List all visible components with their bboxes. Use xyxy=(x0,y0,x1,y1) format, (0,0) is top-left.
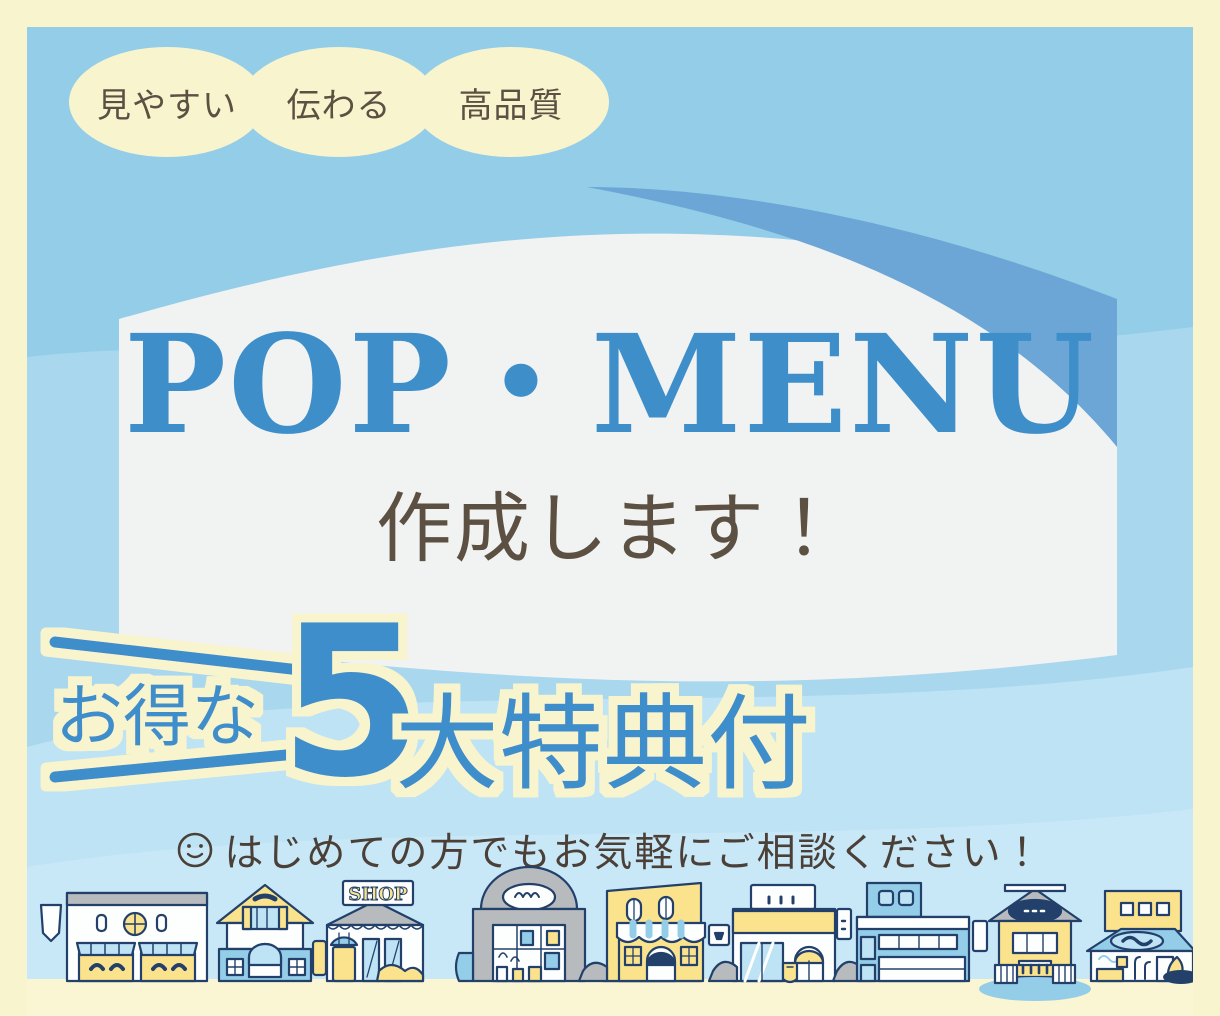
badge-label: 見やすい xyxy=(97,78,237,127)
town-illustration: SHOP xyxy=(27,861,1193,1016)
page-subtitle: 作成します！ xyxy=(27,467,1193,577)
benefit-graphic: お得な 5 大特典付 xyxy=(27,602,1193,822)
banner-root: 見やすい 伝わる 高品質 POP・MENU 作成します！ xyxy=(0,0,1220,1016)
shop-restaurant-building xyxy=(979,885,1091,1001)
shop-bakery-building xyxy=(579,883,729,981)
shop-sign-text: SHOP xyxy=(348,884,408,905)
shop-cafe-building xyxy=(41,893,207,981)
badge-item-2: 高品質 xyxy=(413,47,609,157)
benefit-suffix: 大特典付 xyxy=(395,683,811,805)
badge-label: 伝わる xyxy=(287,78,392,127)
shop-office-building xyxy=(857,883,987,981)
shop-convenience-building xyxy=(709,885,861,982)
town-graphic: SHOP xyxy=(27,861,1193,1016)
badge-group: 見やすい 伝わる 高品質 xyxy=(69,47,585,157)
page-title: POP・MENU xyxy=(27,317,1193,453)
badge-item-1: 伝わる xyxy=(241,47,437,157)
badge-item-0: 見やすい xyxy=(69,47,265,157)
benefit-prefix: お得な xyxy=(55,678,259,757)
shop-sign-building: SHOP xyxy=(327,881,423,981)
benefit-band: お得な 5 大特典付 xyxy=(27,602,1193,822)
shop-studio-building xyxy=(1087,891,1193,984)
headline-block: POP・MENU 作成します！ xyxy=(27,317,1193,577)
banner-stage: 見やすい 伝わる 高品質 POP・MENU 作成します！ xyxy=(27,27,1193,1016)
badge-label: 高品質 xyxy=(459,78,564,127)
shop-house-building xyxy=(217,885,326,981)
